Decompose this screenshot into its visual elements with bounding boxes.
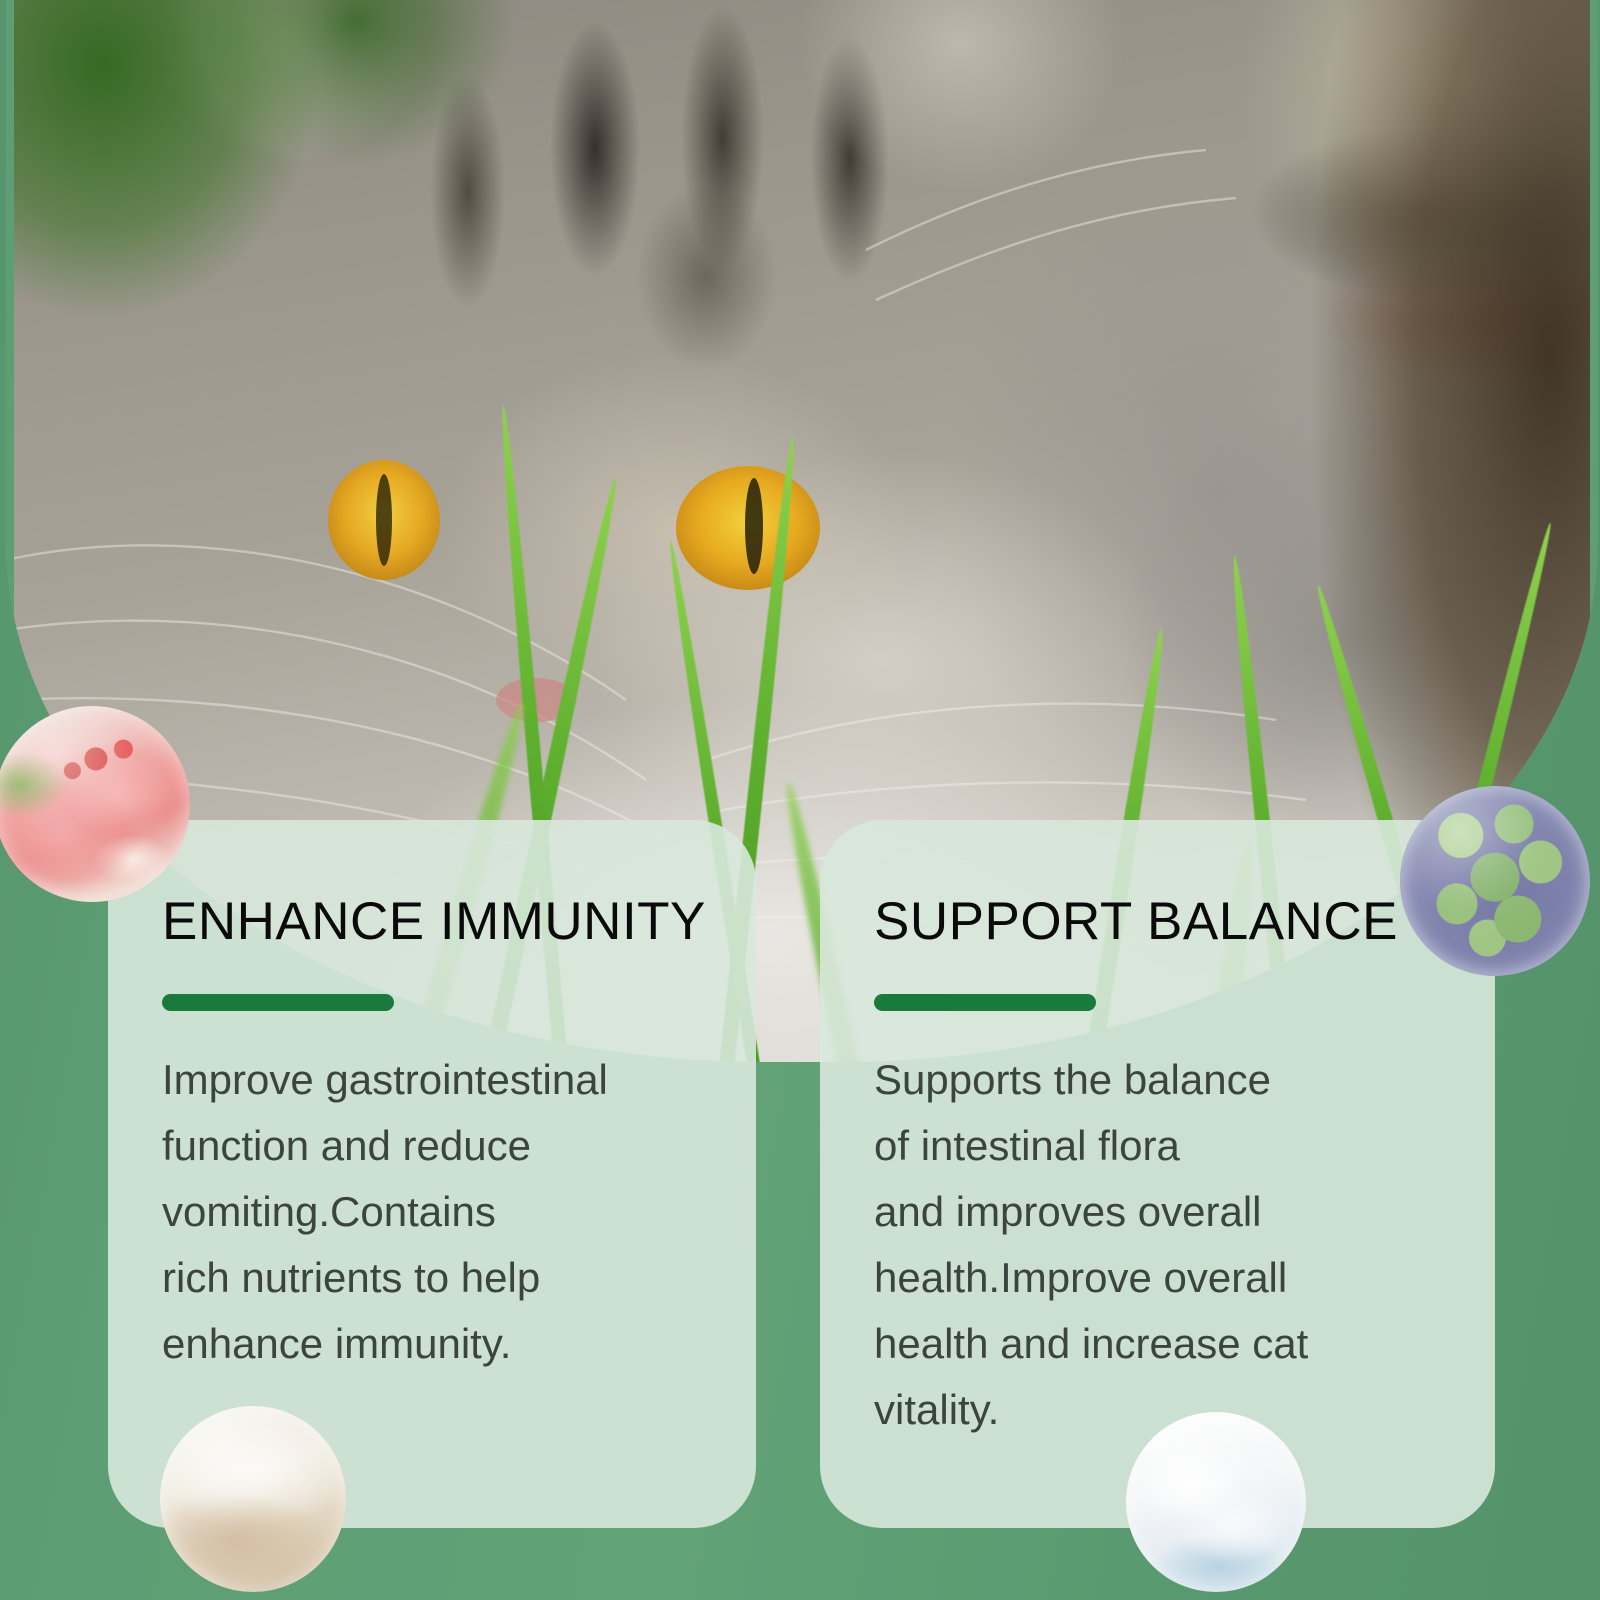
accent-bar — [874, 994, 1096, 1011]
accent-bar — [162, 994, 394, 1011]
raw-meat-icon — [0, 706, 190, 902]
glass-sphere-overlay — [160, 1406, 346, 1592]
glass-sphere-overlay — [0, 706, 190, 902]
card-title: SUPPORT BALANCE — [874, 894, 1449, 950]
card-body-text: Improve gastrointestinal function and re… — [162, 1047, 710, 1377]
photo-right-rim — [1590, 0, 1598, 1062]
feature-card-support-balance[interactable]: SUPPORT BALANCE Supports the balance of … — [820, 820, 1495, 1528]
probiotic-cells-icon — [1400, 786, 1590, 976]
glass-sphere-overlay — [1126, 1412, 1306, 1592]
card-title: ENHANCE IMMUNITY — [162, 894, 710, 950]
supplement-tablet-icon — [1126, 1412, 1306, 1592]
card-body-text: Supports the balance of intestinal flora… — [874, 1047, 1449, 1443]
product-feature-poster: ENHANCE IMMUNITY Improve gastrointestina… — [0, 0, 1600, 1600]
glass-sphere-overlay — [1400, 786, 1590, 976]
photo-left-rim — [6, 0, 14, 1062]
powder-granules-icon — [160, 1406, 346, 1592]
